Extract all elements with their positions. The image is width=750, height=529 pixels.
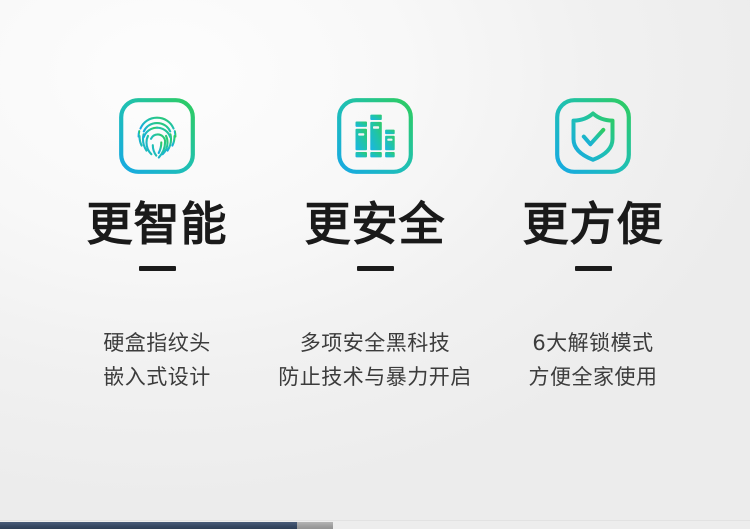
feature-heading: 更安全 (305, 201, 446, 247)
feature-row: 更智能 硬盒指纹头 嵌入式设计 (0, 0, 750, 500)
fingerprint-icon (118, 97, 196, 175)
product-feature-panel: 更智能 硬盒指纹头 嵌入式设计 (0, 0, 750, 529)
feature-column-convenient: 更方便 6大解锁模式 方便全家使用 (484, 0, 702, 394)
feature-heading: 更方便 (523, 201, 664, 247)
feature-description-line1: 6大解锁模式 (529, 326, 658, 360)
feature-description-line1: 多项安全黑科技 (278, 326, 472, 360)
heading-underline (139, 266, 176, 271)
feature-column-safer: 更安全 多项安全黑科技 防止技术与暴力开启 (266, 0, 484, 394)
feature-description-line2: 防止技术与暴力开启 (278, 360, 472, 394)
heading-underline (357, 266, 394, 271)
feature-description-line1: 硬盒指纹头 (103, 326, 211, 360)
feature-description-line2: 嵌入式设计 (103, 360, 211, 394)
feature-description: 多项安全黑科技 防止技术与暴力开启 (278, 326, 472, 394)
books-icon (336, 97, 414, 175)
feature-heading: 更智能 (87, 201, 228, 247)
feature-description: 6大解锁模式 方便全家使用 (529, 326, 658, 394)
horizontal-scroll-secondary-segment[interactable] (297, 522, 333, 529)
feature-description-line2: 方便全家使用 (529, 360, 658, 394)
horizontal-scrollbar[interactable] (0, 520, 750, 529)
shield-check-icon (554, 97, 632, 175)
heading-underline (575, 266, 612, 271)
feature-description: 硬盒指纹头 嵌入式设计 (103, 326, 211, 394)
feature-column-smarter: 更智能 硬盒指纹头 嵌入式设计 (48, 0, 266, 394)
horizontal-scroll-thumb[interactable] (0, 522, 297, 529)
